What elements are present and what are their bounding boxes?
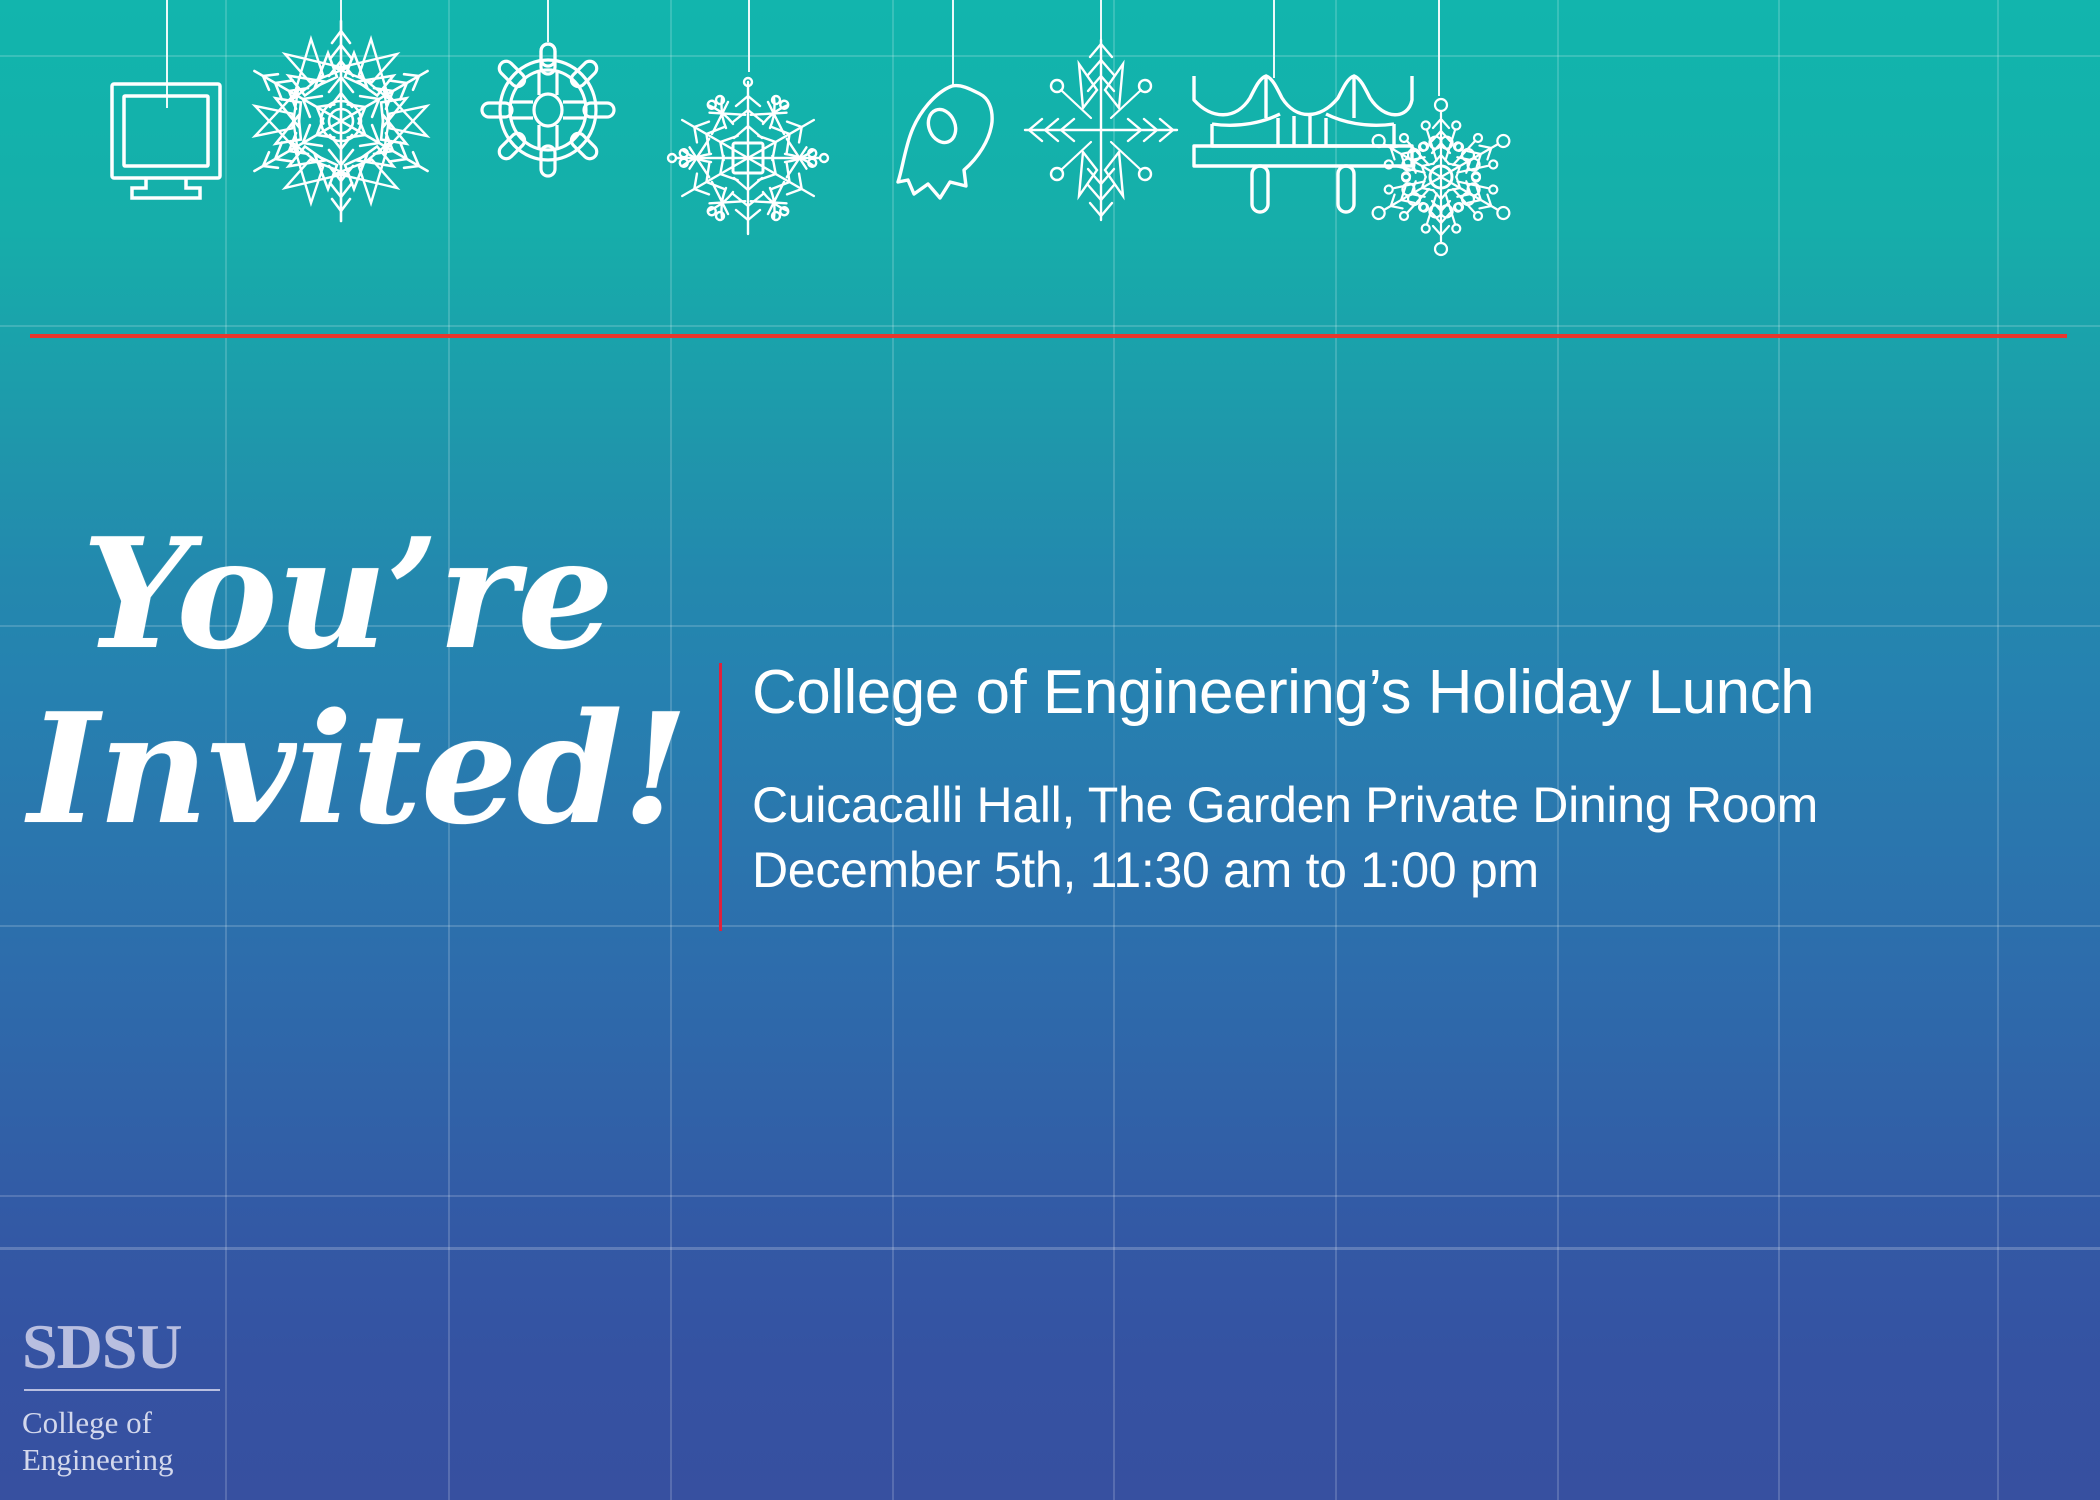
script-line-2: Invited! xyxy=(28,695,688,844)
computer-monitor-ornament xyxy=(108,80,224,200)
dot-circuit-snowflake-ornament xyxy=(1368,92,1514,262)
script-heading: You’re Invited! xyxy=(28,520,688,844)
event-details: College of Engineering’s Holiday Lunch C… xyxy=(752,660,2082,903)
ornament-string xyxy=(547,0,549,42)
arrow-snowflake-ornament xyxy=(1022,38,1180,223)
event-headline: College of Engineering’s Holiday Lunch xyxy=(752,660,2082,725)
feather-snowflake-ornament xyxy=(256,16,426,226)
ship-wheel-ornament xyxy=(478,38,618,183)
top-red-rule xyxy=(30,334,2067,338)
script-line-1: You’re xyxy=(28,520,688,669)
logo-sublabel-line-2: Engineering xyxy=(22,1442,352,1479)
rocket-ornament xyxy=(892,82,998,204)
circuit-snowflake-ornament xyxy=(662,66,834,256)
logo-sublabel: College of Engineering xyxy=(22,1405,352,1478)
sdsu-wordmark: SDSU xyxy=(22,1315,352,1379)
ornament-string xyxy=(952,0,954,86)
logo-divider xyxy=(24,1389,220,1391)
invitation-poster: You’re Invited! College of Engineering’s… xyxy=(0,0,2100,1500)
vertical-red-divider xyxy=(719,663,722,931)
ornament-row xyxy=(0,0,2100,300)
sdsu-logo: SDSU College of Engineering xyxy=(22,1315,352,1478)
event-location: Cuicacalli Hall, The Garden Private Dini… xyxy=(752,773,2082,838)
ornament-string xyxy=(1273,0,1275,78)
ornament-string xyxy=(1438,0,1440,96)
logo-sublabel-line-1: College of xyxy=(22,1405,352,1442)
event-datetime: December 5th, 11:30 am to 1:00 pm xyxy=(752,838,2082,903)
ornament-string xyxy=(748,0,750,72)
